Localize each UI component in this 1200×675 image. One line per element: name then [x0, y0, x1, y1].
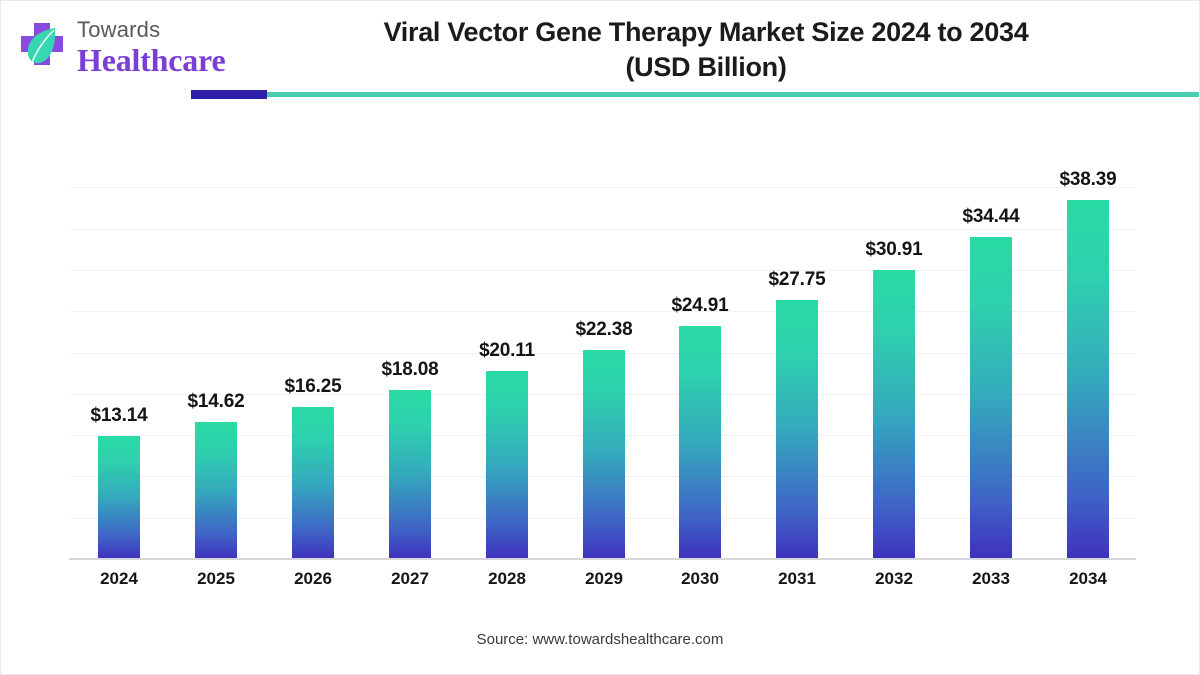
bar-group: $18.08: [389, 146, 431, 559]
bar[interactable]: [679, 326, 721, 559]
x-axis-tick-label: 2026: [268, 569, 358, 589]
x-axis-tick-label: 2031: [752, 569, 842, 589]
x-axis-tick-labels: 2024202520262027202820292030203120322033…: [71, 569, 1136, 599]
x-axis-tick-label: 2029: [559, 569, 649, 589]
bar-value-label: $24.91: [672, 295, 729, 317]
x-axis-line: [69, 558, 1136, 560]
bar-value-label: $30.91: [866, 239, 923, 261]
bar[interactable]: [583, 350, 625, 559]
bar-group: $13.14: [98, 146, 140, 559]
bar-value-label: $18.08: [382, 359, 439, 381]
brand-name-top: Towards: [77, 19, 225, 41]
brand-name-bottom: Healthcare: [77, 44, 225, 76]
medical-cross-leaf-icon: [15, 19, 69, 75]
bar[interactable]: [292, 407, 334, 559]
title-block: Viral Vector Gene Therapy Market Size 20…: [251, 15, 1161, 85]
bar-value-label: $38.39: [1060, 169, 1117, 191]
x-axis-tick-label: 2027: [365, 569, 455, 589]
x-axis-tick-label: 2025: [171, 569, 261, 589]
bar-group: $16.25: [292, 146, 334, 559]
bar-group: $27.75: [776, 146, 818, 559]
brand-wordmark: Towards Healthcare: [77, 17, 225, 76]
x-axis-tick-label: 2032: [849, 569, 939, 589]
bar-group: $14.62: [195, 146, 237, 559]
x-axis-tick-label: 2030: [655, 569, 745, 589]
bar-group: $22.38: [583, 146, 625, 559]
x-axis-tick-label: 2033: [946, 569, 1036, 589]
bar-value-label: $20.11: [479, 340, 535, 362]
bar-value-label: $14.62: [188, 391, 245, 413]
accent-rule-teal: [191, 92, 1199, 97]
chart-title: Viral Vector Gene Therapy Market Size 20…: [251, 15, 1161, 85]
bar-group: $20.11: [486, 146, 528, 559]
accent-rule: [191, 90, 1199, 99]
bar-value-label: $16.25: [285, 376, 342, 398]
source-caption: Source: www.towardshealthcare.com: [1, 631, 1199, 648]
bar[interactable]: [486, 371, 528, 559]
bar[interactable]: [873, 270, 915, 559]
bar-group: $30.91: [873, 146, 915, 559]
bar-group: $24.91: [679, 146, 721, 559]
chart-canvas: Towards Healthcare Viral Vector Gene The…: [0, 0, 1200, 675]
bar[interactable]: [389, 390, 431, 559]
plot-area: $13.14$14.62$16.25$18.08$20.11$22.38$24.…: [71, 146, 1136, 559]
x-axis-tick-label: 2034: [1043, 569, 1133, 589]
bar-value-label: $34.44: [963, 206, 1020, 228]
bar-series: $13.14$14.62$16.25$18.08$20.11$22.38$24.…: [71, 146, 1136, 559]
bar[interactable]: [1067, 200, 1109, 559]
brand-logo: Towards Healthcare: [15, 17, 225, 76]
bar[interactable]: [970, 237, 1012, 559]
bar-group: $34.44: [970, 146, 1012, 559]
bar[interactable]: [98, 436, 140, 559]
bar[interactable]: [776, 300, 818, 559]
bar-value-label: $22.38: [576, 319, 633, 341]
x-axis-tick-label: 2024: [74, 569, 164, 589]
accent-rule-indigo: [191, 90, 267, 99]
bar-value-label: $13.14: [91, 405, 148, 427]
bar[interactable]: [195, 422, 237, 559]
bar-value-label: $27.75: [769, 269, 826, 291]
x-axis-tick-label: 2028: [462, 569, 552, 589]
bar-group: $38.39: [1067, 146, 1109, 559]
